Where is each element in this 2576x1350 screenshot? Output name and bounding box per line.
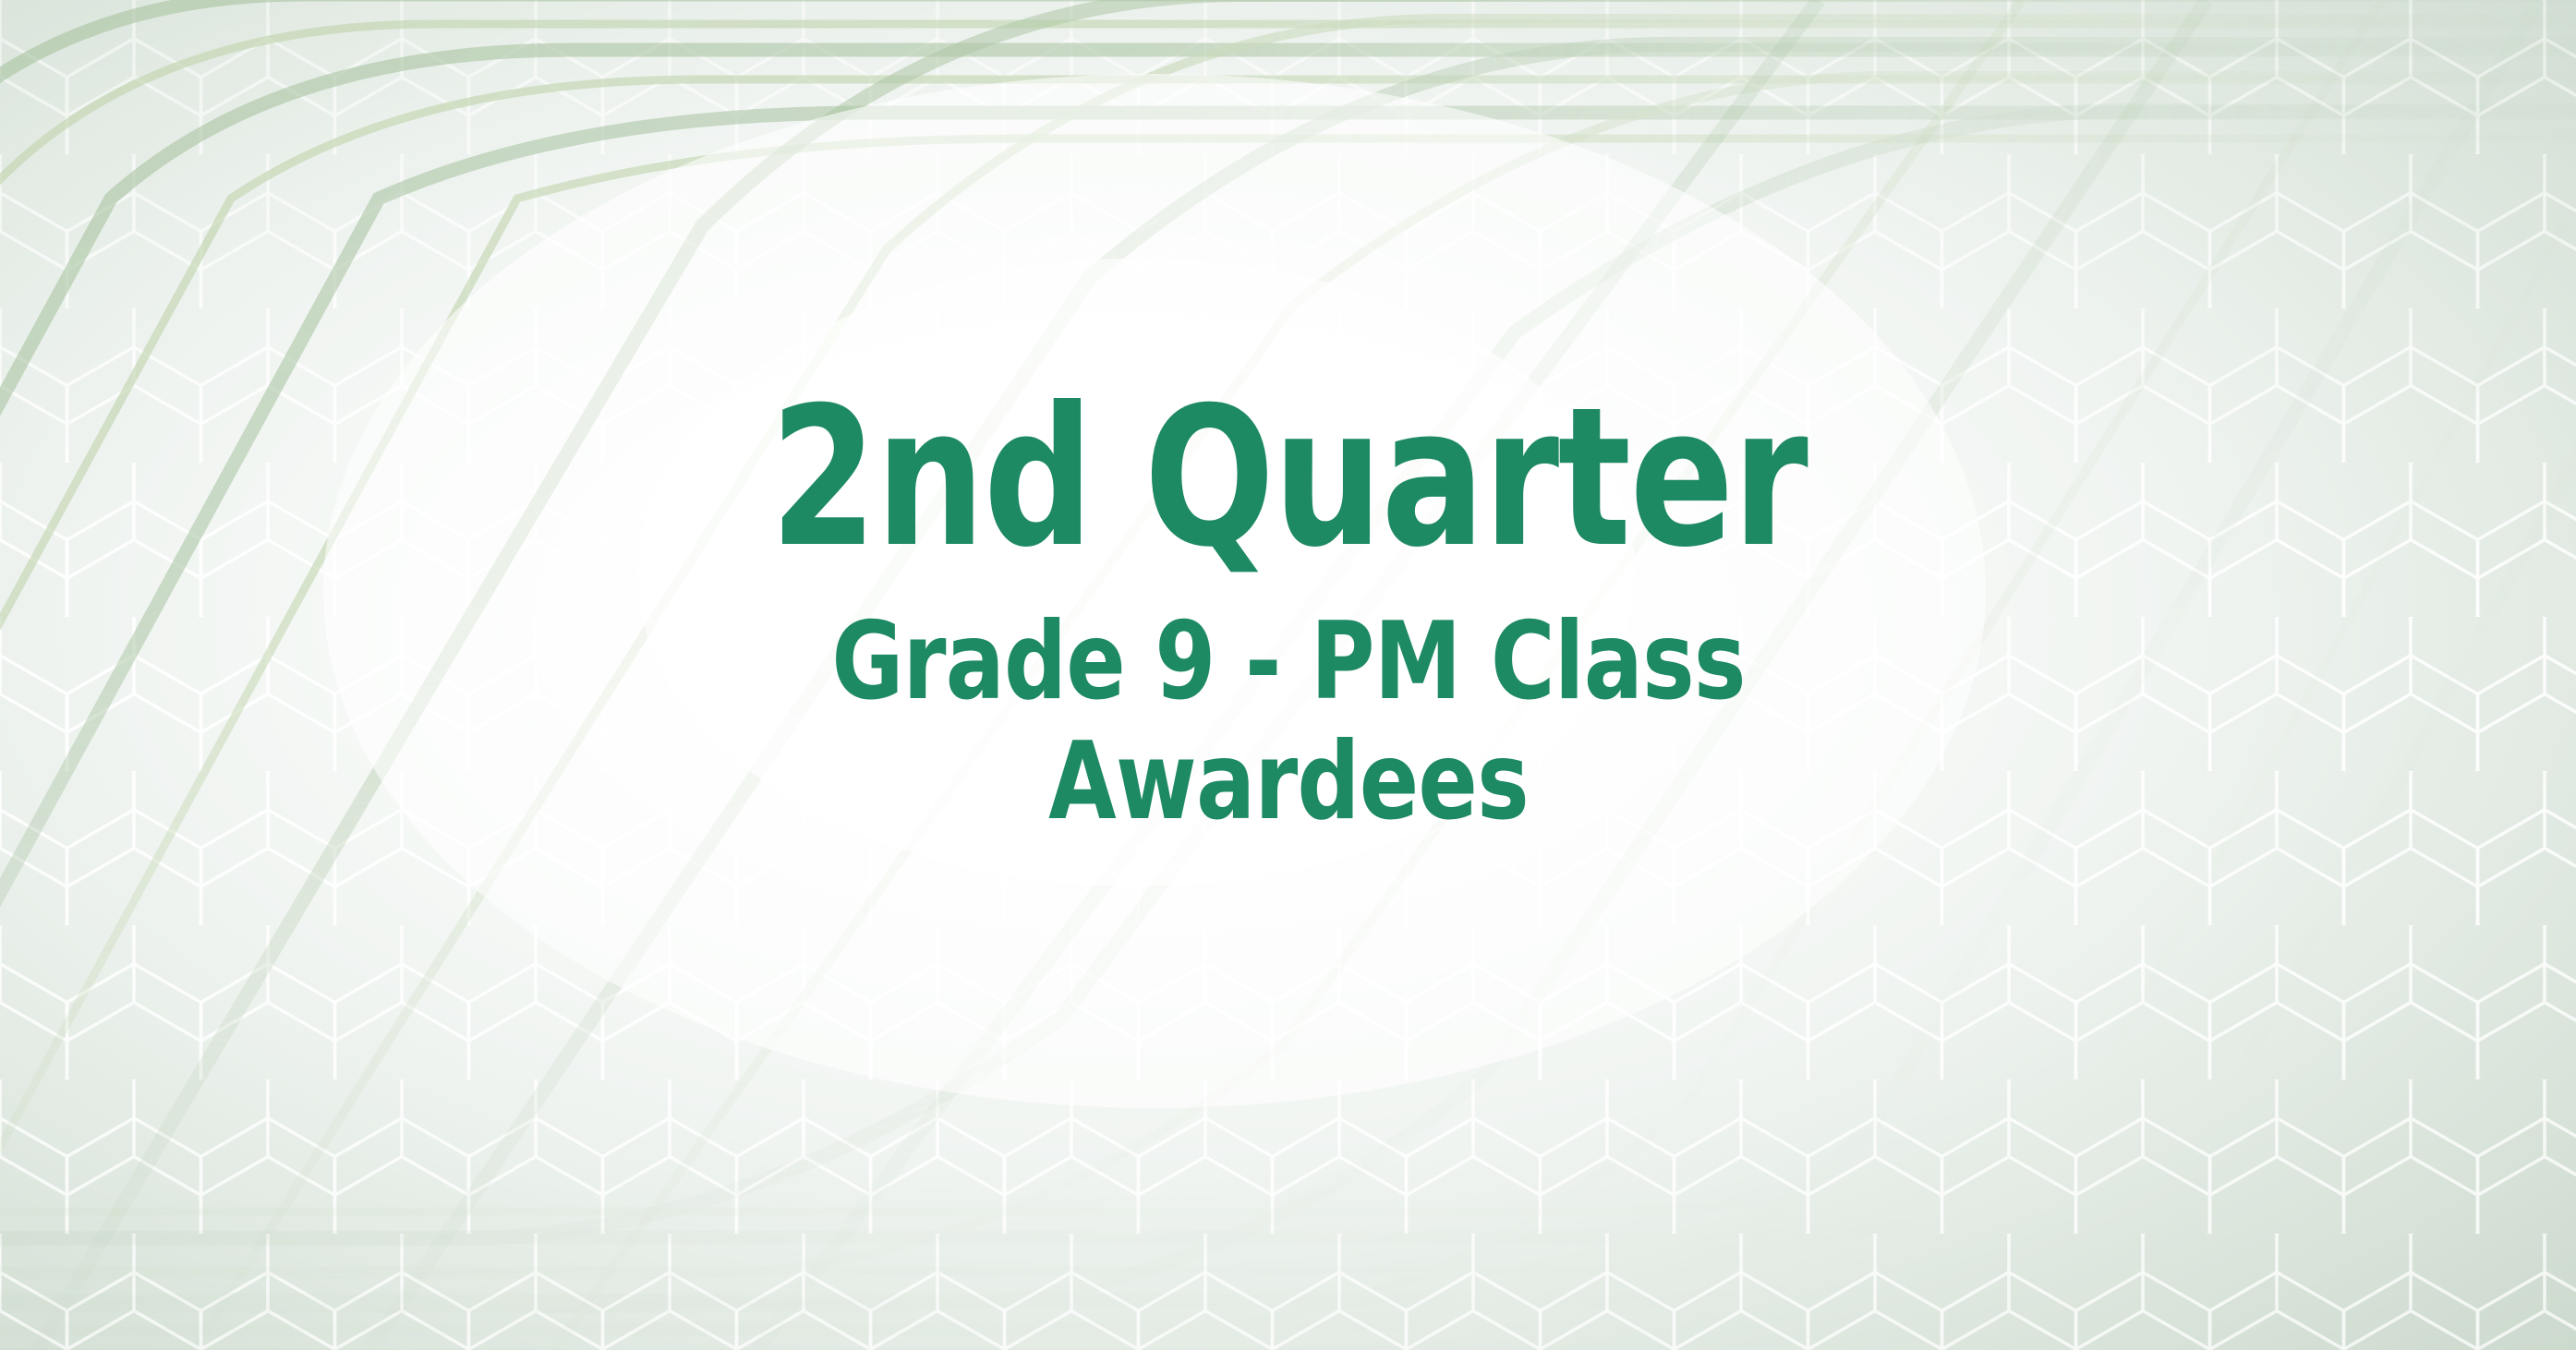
slide-title: 2nd Quarter	[476, 380, 2101, 576]
slide-subtitle-line-2: Awardees	[455, 722, 2122, 842]
slide-subtitle-line-1: Grade 9 - PM Class	[455, 602, 2122, 722]
slide-content: 2nd Quarter Grade 9 - PM Class Awardees	[0, 0, 2576, 1350]
presentation-slide: 2nd Quarter Grade 9 - PM Class Awardees	[0, 0, 2576, 1350]
title-block: 2nd Quarter Grade 9 - PM Class Awardees	[272, 380, 2304, 842]
slide-subtitle: Grade 9 - PM Class Awardees	[455, 602, 2122, 842]
